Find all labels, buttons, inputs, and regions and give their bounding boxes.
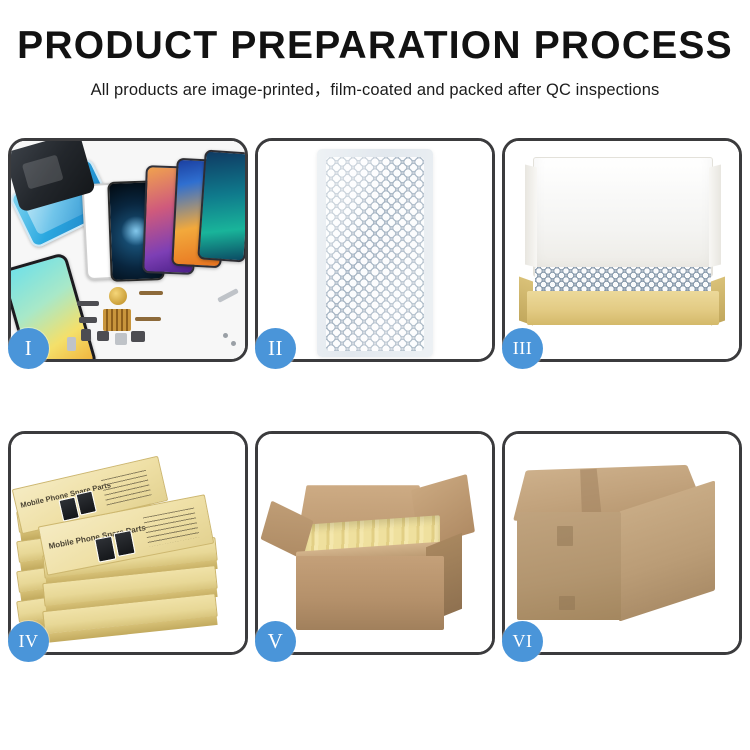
box-label-spec-lines: [101, 470, 152, 506]
spare-part-module-icon: [131, 331, 145, 342]
open-carton-scene: [258, 434, 492, 652]
step-badge-6: VI: [502, 621, 543, 662]
bubble-wrap-scene: [258, 141, 492, 359]
step-image-3: [505, 141, 739, 359]
spare-part-screw-icon: [231, 341, 236, 346]
spare-part-bracket-icon: [79, 317, 97, 323]
page-subtitle: All products are image-printed，film-coat…: [0, 76, 750, 100]
open-mailer-scene: [505, 141, 739, 359]
step-badge-4: IV: [8, 621, 49, 662]
carton-hand-hole-icon: [557, 526, 573, 546]
spare-part-sim-tray-icon: [67, 337, 76, 351]
step-badge-3: III: [502, 328, 543, 369]
process-step-card-4: Mobile Phone Spare Parts Mobile Phone Sp…: [8, 431, 248, 655]
teal-gradient-phone-icon: [197, 149, 245, 262]
spare-part-connector-icon: [77, 301, 99, 306]
spare-part-screw-icon: [223, 333, 228, 338]
spare-part-button-icon: [81, 329, 91, 341]
spare-part-speaker-icon: [115, 333, 127, 345]
retail-box-stack: Mobile Phone Spare Parts Mobile Phone Sp…: [13, 448, 245, 648]
mailer-front-panel-icon: [527, 291, 719, 325]
mailer-lid-icon: [533, 157, 713, 277]
bubble-wrap-gloss-icon: [326, 157, 424, 351]
step-badge-2: II: [255, 328, 296, 369]
spare-part-camera-icon: [97, 331, 109, 341]
step-image-2: [258, 141, 492, 359]
step-image-5: [258, 434, 492, 652]
page-header: PRODUCT PREPARATION PROCESS All products…: [0, 0, 750, 100]
step-badge-1: I: [8, 328, 49, 369]
spare-part-flex-cable-icon: [139, 291, 163, 295]
spare-part-gold-coil-icon: [109, 287, 127, 305]
carton-front-panel-icon: [296, 556, 444, 630]
process-step-card-5: V: [255, 431, 495, 655]
step-image-6: [505, 434, 739, 652]
phone-parts-collage: [11, 141, 245, 359]
process-steps-grid: I II III: [8, 138, 742, 655]
box-label-phone-image: [94, 536, 116, 563]
step-badge-5: V: [255, 621, 296, 662]
page-title: PRODUCT PREPARATION PROCESS: [0, 26, 750, 67]
box-stack-scene: Mobile Phone Spare Parts Mobile Phone Sp…: [11, 434, 245, 652]
step-image-4: Mobile Phone Spare Parts Mobile Phone Sp…: [11, 434, 245, 652]
carton-flap-tab-icon: [559, 596, 575, 610]
step-image-1: [11, 141, 245, 359]
process-step-card-6: VI: [502, 431, 742, 655]
box-label-phone-image: [75, 490, 97, 515]
box-label-spec-lines: [143, 508, 200, 547]
spare-part-ribbon-icon: [135, 317, 161, 321]
process-step-card-3: III: [502, 138, 742, 362]
process-step-card-1: I: [8, 138, 248, 362]
sealed-carton-scene: [505, 434, 739, 652]
spare-part-chip-grid-icon: [103, 309, 131, 331]
spare-part-tool-icon: [217, 288, 239, 303]
process-step-card-2: II: [255, 138, 495, 362]
